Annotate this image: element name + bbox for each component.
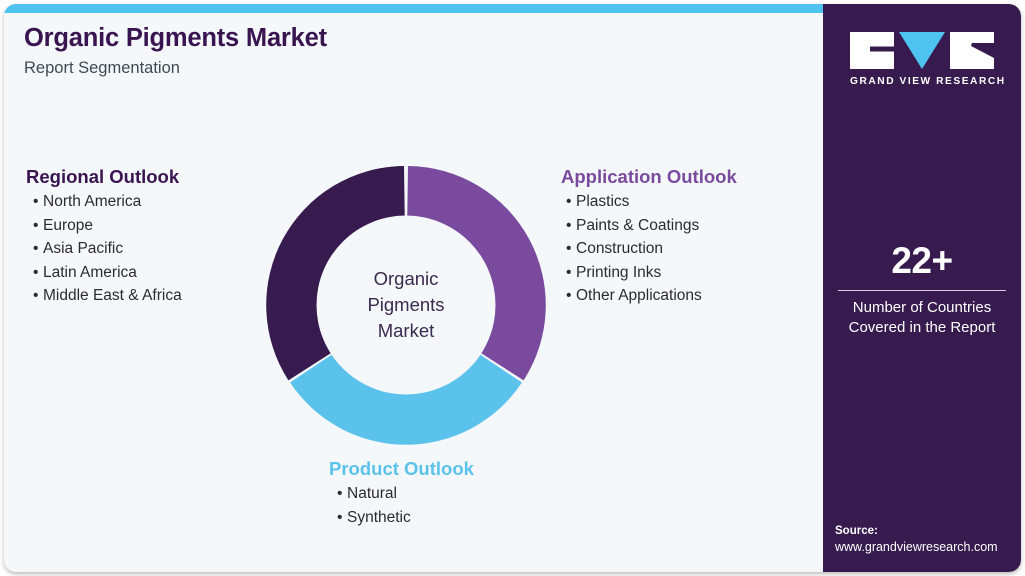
source-block: Source: www.grandviewresearch.com xyxy=(835,523,1021,556)
bullet-icon: • xyxy=(566,261,576,285)
list-item-label: Latin America xyxy=(43,264,137,281)
stat-divider xyxy=(838,290,1006,291)
list-item: •Latin America xyxy=(33,261,182,285)
side-panel: GRAND VIEW RESEARCH 22+ Number of Countr… xyxy=(823,4,1021,572)
source-url[interactable]: www.grandviewresearch.com xyxy=(835,539,1021,556)
logo-marks xyxy=(850,32,994,69)
bullet-icon: • xyxy=(33,237,43,261)
logo-v-icon xyxy=(899,32,945,69)
list-item: •Construction xyxy=(566,237,737,261)
product-outlook-block: Product Outlook •Natural •Synthetic xyxy=(329,457,474,529)
list-item-label: Plastics xyxy=(576,193,629,210)
bullet-icon: • xyxy=(33,284,43,308)
bullet-icon: • xyxy=(33,214,43,238)
logo-wordmark: GRAND VIEW RESEARCH xyxy=(850,76,994,87)
list-item-label: Middle East & Africa xyxy=(43,287,182,304)
stat-caption-line-1: Number of Countries xyxy=(838,298,1006,319)
header: Organic Pigments Market Report Segmentat… xyxy=(24,24,724,78)
infographic-card: Organic Pigments Market Report Segmentat… xyxy=(4,4,1021,572)
list-item: •Printing Inks xyxy=(566,261,737,285)
stat-caption: Number of Countries Covered in the Repor… xyxy=(838,298,1006,339)
list-item: •North America xyxy=(33,190,182,214)
stat-value: 22+ xyxy=(838,242,1006,281)
product-outlook-list: •Natural •Synthetic xyxy=(329,482,474,529)
bullet-icon: • xyxy=(337,482,347,506)
donut-hole xyxy=(317,216,496,395)
infographic-root: Organic Pigments Market Report Segmentat… xyxy=(0,0,1025,576)
stat-block: 22+ Number of Countries Covered in the R… xyxy=(838,242,1006,339)
logo-r-icon xyxy=(950,32,994,69)
list-item-label: Other Applications xyxy=(576,287,702,304)
product-outlook-heading: Product Outlook xyxy=(329,457,474,480)
bullet-icon: • xyxy=(566,190,576,214)
list-item-label: Printing Inks xyxy=(576,264,661,281)
page-title: Organic Pigments Market xyxy=(24,24,724,53)
bullet-icon: • xyxy=(33,190,43,214)
list-item: •Paints & Coatings xyxy=(566,214,737,238)
list-item-label: Synthetic xyxy=(347,509,411,526)
list-item: •Asia Pacific xyxy=(33,237,182,261)
application-outlook-heading: Application Outlook xyxy=(561,165,737,188)
donut-svg xyxy=(266,165,546,445)
list-item-label: Natural xyxy=(347,485,397,502)
page-subtitle: Report Segmentation xyxy=(24,59,724,78)
list-item: •Other Applications xyxy=(566,284,737,308)
list-item: •Europe xyxy=(33,214,182,238)
regional-outlook-block: Regional Outlook •North America •Europe … xyxy=(26,165,182,308)
application-outlook-block: Application Outlook •Plastics •Paints & … xyxy=(561,165,737,308)
bullet-icon: • xyxy=(337,506,347,530)
brand-logo: GRAND VIEW RESEARCH xyxy=(850,32,994,87)
list-item: •Synthetic xyxy=(337,506,474,530)
list-item: •Middle East & Africa xyxy=(33,284,182,308)
regional-outlook-list: •North America •Europe •Asia Pacific •La… xyxy=(26,190,182,308)
source-label: Source: xyxy=(835,523,1021,539)
bullet-icon: • xyxy=(566,237,576,261)
donut-chart: Organic Pigments Market xyxy=(266,165,546,445)
logo-g-icon xyxy=(850,32,894,69)
regional-outlook-heading: Regional Outlook xyxy=(26,165,182,188)
stat-caption-line-2: Covered in the Report xyxy=(838,318,1006,339)
list-item-label: Construction xyxy=(576,240,663,257)
bullet-icon: • xyxy=(566,214,576,238)
list-item-label: North America xyxy=(43,193,141,210)
list-item-label: Paints & Coatings xyxy=(576,217,699,234)
bullet-icon: • xyxy=(33,261,43,285)
application-outlook-list: •Plastics •Paints & Coatings •Constructi… xyxy=(561,190,737,308)
list-item: •Plastics xyxy=(566,190,737,214)
list-item-label: Europe xyxy=(43,217,93,234)
list-item: •Natural xyxy=(337,482,474,506)
bullet-icon: • xyxy=(566,284,576,308)
list-item-label: Asia Pacific xyxy=(43,240,123,257)
top-accent-bar xyxy=(4,4,823,13)
